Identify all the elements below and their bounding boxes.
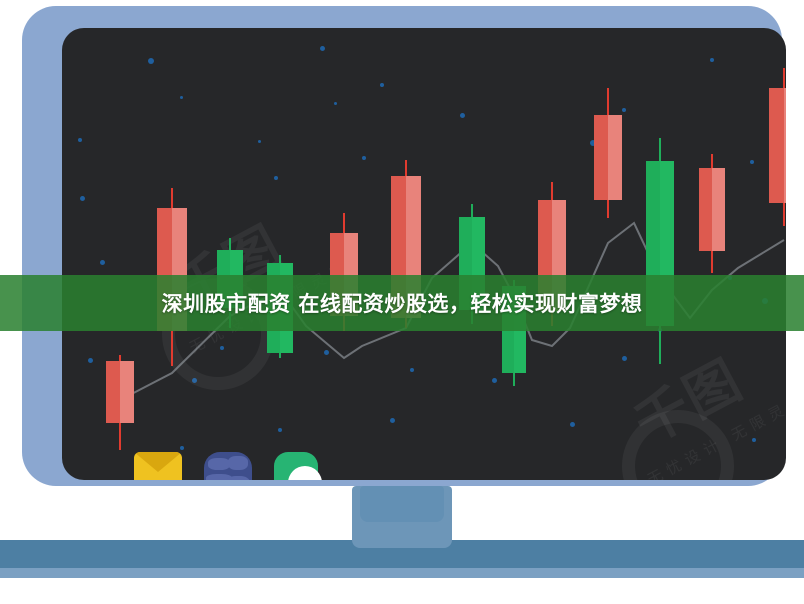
- toggle-icon: [274, 452, 318, 480]
- monitor-stand-neck: [352, 486, 452, 548]
- candle-10: [594, 88, 622, 218]
- screenshot-canvas: 千图 无忧设计 无限灵感 千图 无忧设计 无限灵感: [0, 0, 804, 604]
- monitor-bezel: 千图 无忧设计 无限灵感 千图 无忧设计 无限灵感: [22, 6, 782, 486]
- toggle-knob: [288, 466, 322, 480]
- candle-body: [769, 88, 786, 203]
- toggle-app-button[interactable]: [274, 452, 322, 480]
- caption-banner-text: 深圳股市配资 在线配资炒股选，轻松实现财富梦想: [162, 288, 643, 318]
- mail-flap-shape: [134, 452, 182, 472]
- globe-icon: [204, 452, 252, 480]
- candle-body: [699, 168, 725, 251]
- caption-banner: 深圳股市配资 在线配资炒股选，轻松实现财富梦想: [0, 275, 804, 331]
- candlestick-chart: 千图 无忧设计 无限灵感 千图 无忧设计 无限灵感: [62, 28, 786, 480]
- globe-landmass: [208, 458, 230, 470]
- candle-1: [106, 355, 134, 450]
- globe-landmass: [228, 456, 248, 470]
- candle-body: [594, 115, 622, 200]
- candle-12: [699, 154, 725, 273]
- candle-body: [106, 361, 134, 423]
- browser-app-button[interactable]: [204, 452, 252, 480]
- monitor-stand-base-lip: [0, 568, 804, 578]
- monitor-stand-neck-inner: [360, 486, 444, 522]
- globe-landmass: [226, 476, 250, 480]
- taskbar-icons: [134, 452, 322, 480]
- candle-13: [769, 68, 786, 226]
- mail-app-button[interactable]: [134, 452, 182, 480]
- monitor-screen: 千图 无忧设计 无限灵感 千图 无忧设计 无限灵感: [62, 28, 786, 480]
- mail-icon: [134, 452, 182, 480]
